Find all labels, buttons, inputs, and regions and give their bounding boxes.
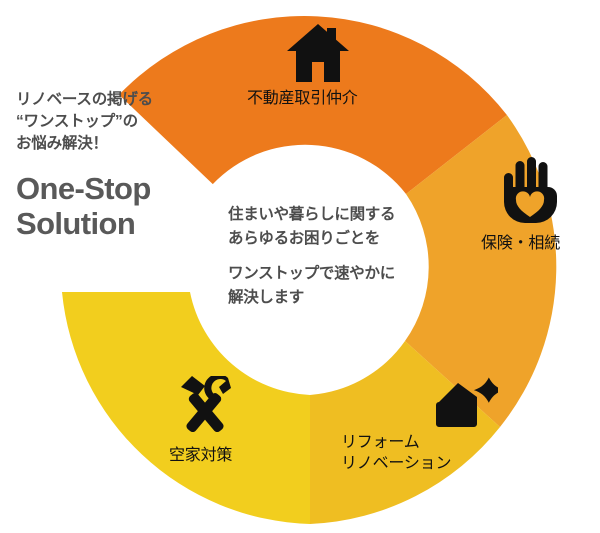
hand-heart-icon bbox=[502, 157, 558, 223]
headline-line-1: One-Stop bbox=[16, 171, 221, 206]
house-sparkle-icon bbox=[436, 376, 498, 428]
center-spacer bbox=[228, 251, 443, 262]
headline: One-Stop Solution bbox=[16, 171, 221, 241]
headline-line-2: Solution bbox=[16, 206, 221, 241]
center-line-3: ワンストップで速やかに bbox=[228, 262, 443, 286]
lead-line-1: リノベースの掲げる bbox=[16, 89, 221, 111]
lead-line-3: お悩み解決！ bbox=[16, 133, 221, 155]
center-line-1: 住まいや暮らしに関する bbox=[228, 203, 443, 227]
center-line-4: 解決します bbox=[228, 286, 443, 310]
segment-label-real-estate[interactable]: 不動産取引仲介 bbox=[247, 88, 358, 109]
segment-label-renovation-line1: リフォーム bbox=[341, 432, 451, 453]
segment-label-renovation-line2: リノベーション bbox=[341, 453, 451, 474]
left-heading-block: リノベースの掲げる “ワンストップ”の お悩み解決！ One-Stop Solu… bbox=[16, 89, 221, 241]
house-icon bbox=[287, 24, 349, 82]
center-line-2: あらゆるお困りごとを bbox=[228, 227, 443, 251]
center-description: 住まいや暮らしに関する あらゆるお困りごとを ワンストップで速やかに 解決します bbox=[228, 203, 443, 310]
lead-line-2: “ワンストップ”の bbox=[16, 111, 221, 133]
hammer-wrench-icon bbox=[176, 376, 238, 432]
one-stop-solution-infographic: 不動産取引仲介 保険・相続 リフォーム リノベーション 空家対策 リノベースの掲… bbox=[0, 0, 600, 533]
segment-label-renovation[interactable]: リフォーム リノベーション bbox=[341, 432, 451, 474]
segment-label-insurance-inheritance[interactable]: 保険・相続 bbox=[481, 233, 560, 254]
segment-label-vacant-house[interactable]: 空家対策 bbox=[169, 445, 232, 466]
